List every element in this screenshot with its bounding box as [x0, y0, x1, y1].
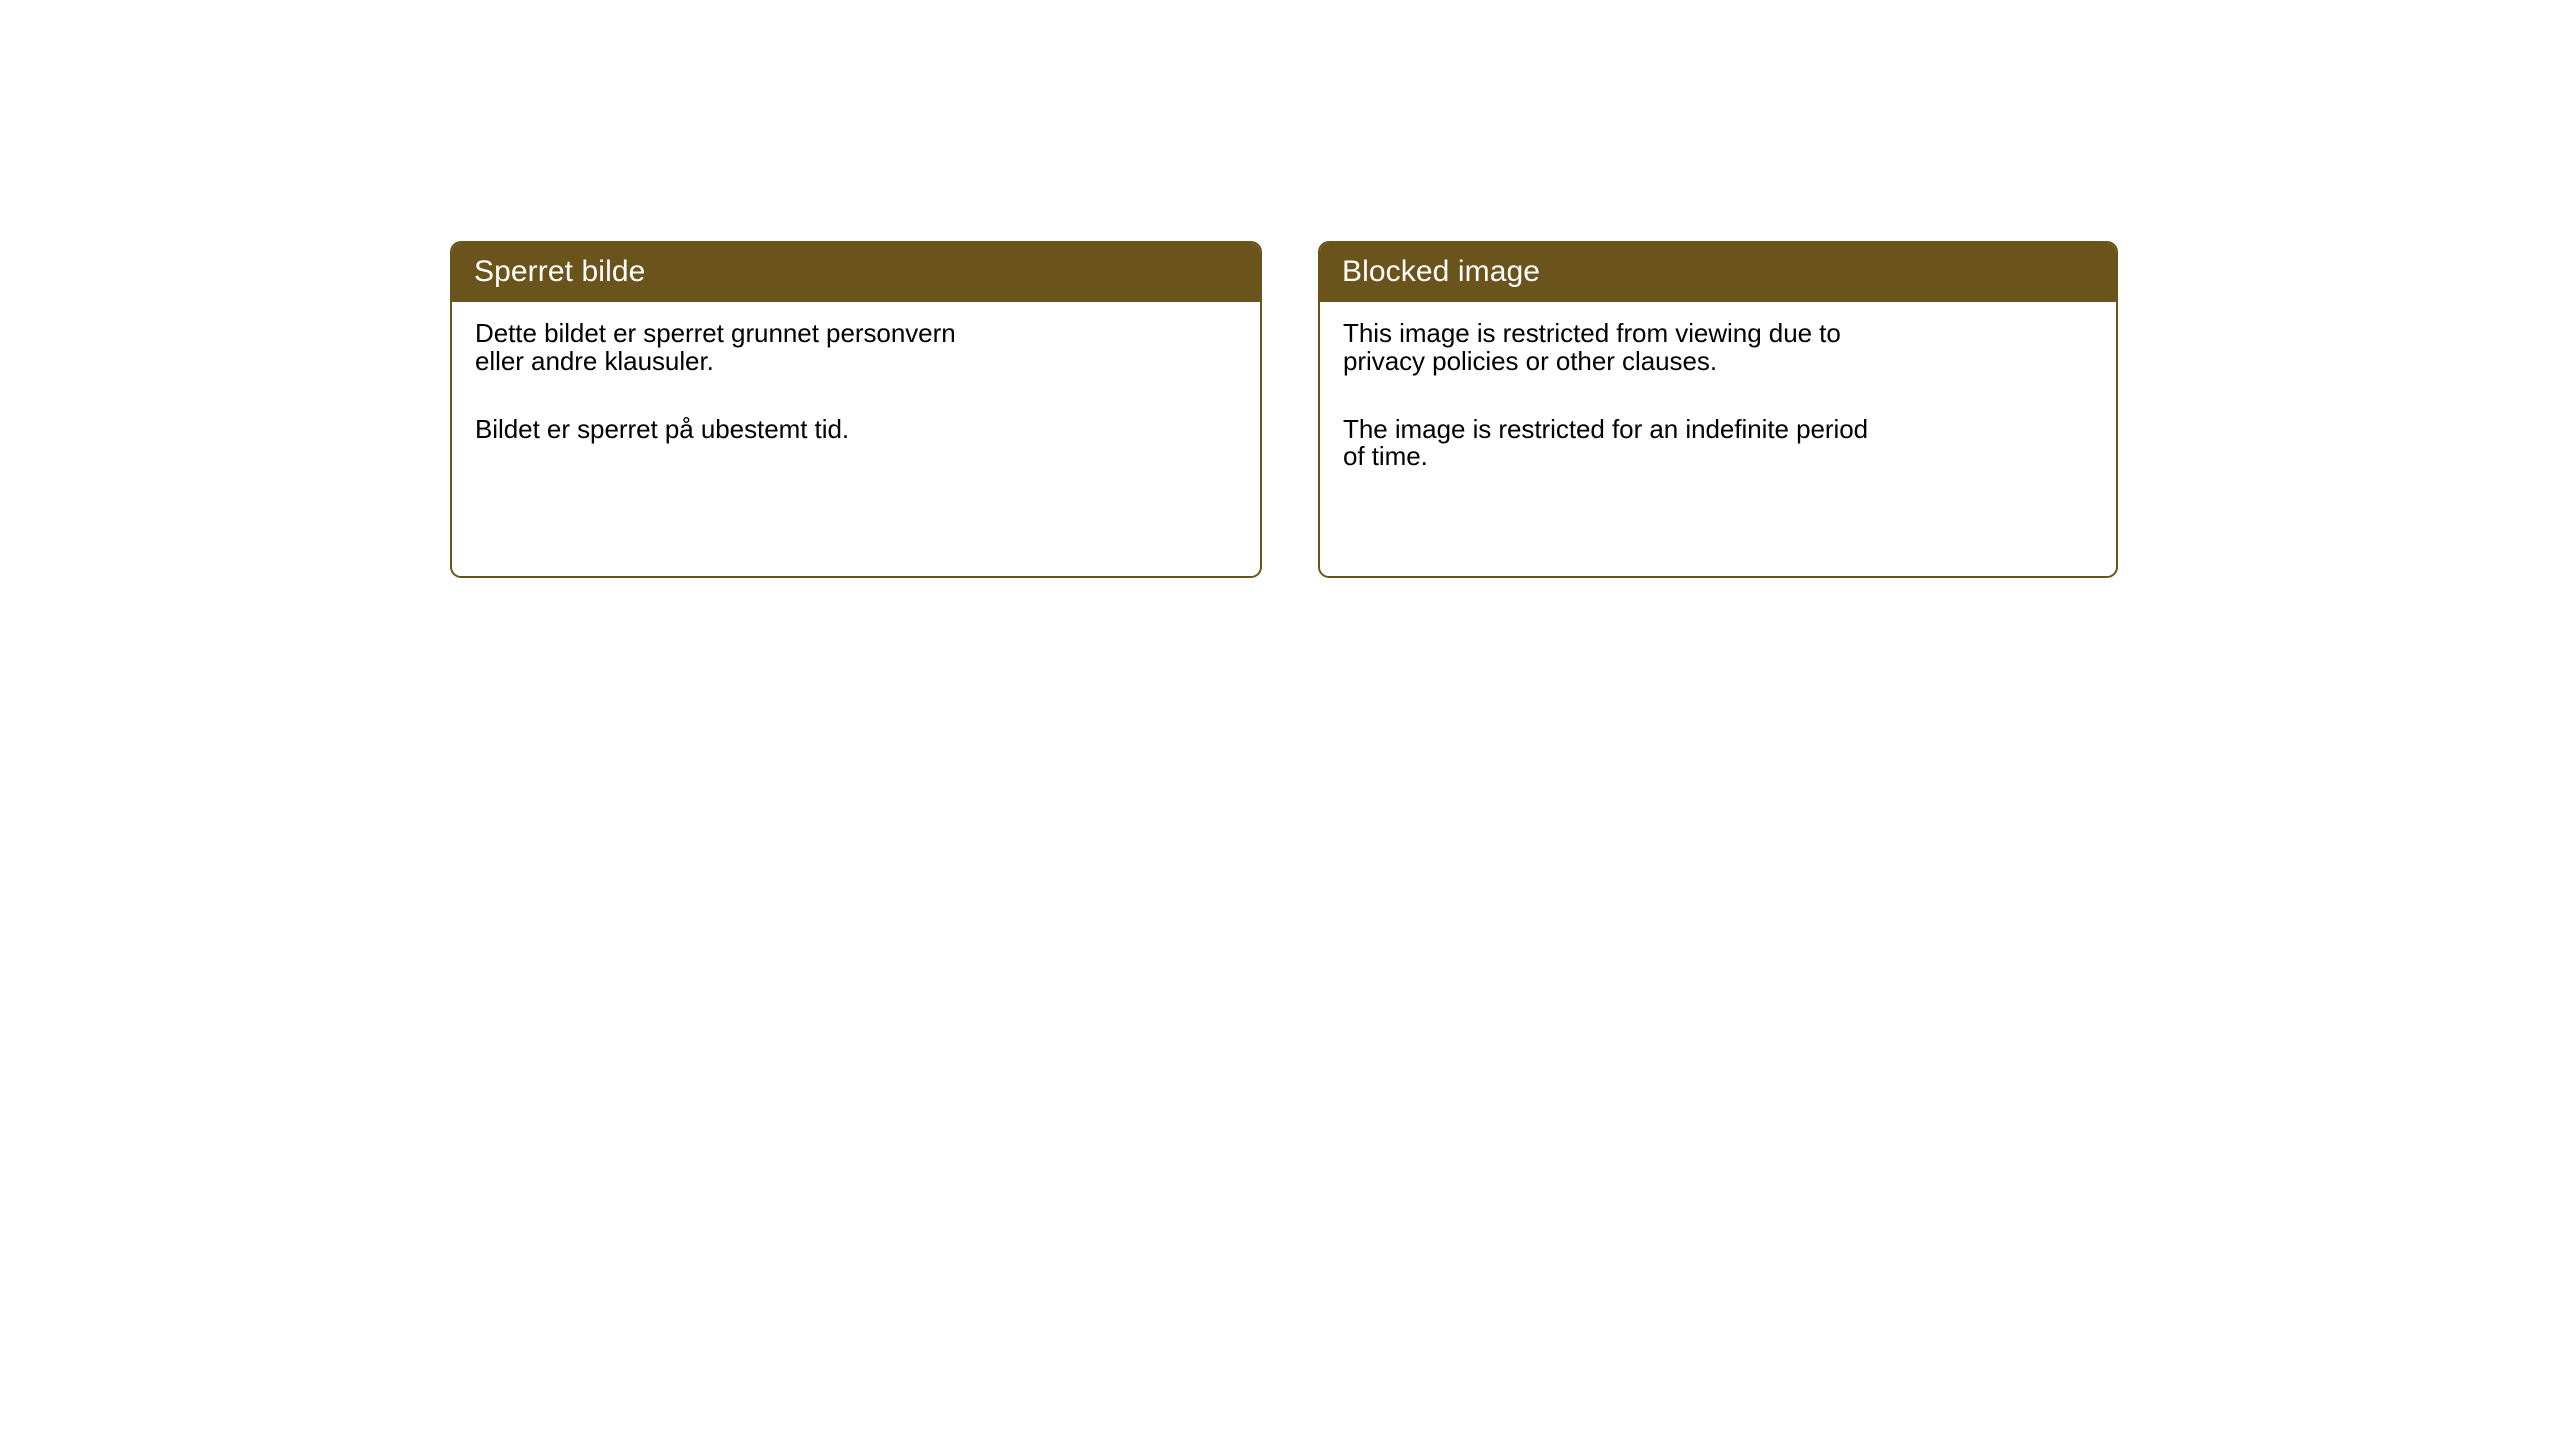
notice-paragraph: Bildet er sperret på ubestemt tid. [475, 416, 1238, 444]
blocked-image-notice-card-english: Blocked image This image is restricted f… [1318, 241, 2118, 578]
notice-line: This image is restricted from viewing du… [1343, 320, 2094, 348]
notice-line: Bildet er sperret på ubestemt tid. [475, 416, 1238, 444]
notice-line: eller andre klausuler. [475, 348, 1238, 376]
notice-paragraph: The image is restricted for an indefinit… [1343, 416, 2094, 472]
notice-paragraph: Dette bildet er sperret grunnet personve… [475, 320, 1238, 376]
notice-line: of time. [1343, 443, 2094, 471]
notice-line: privacy policies or other clauses. [1343, 348, 2094, 376]
notice-line: The image is restricted for an indefinit… [1343, 416, 2094, 444]
notice-line: Dette bildet er sperret grunnet personve… [475, 320, 1238, 348]
card-body-english: This image is restricted from viewing du… [1320, 302, 2116, 471]
card-body-norwegian: Dette bildet er sperret grunnet personve… [452, 302, 1260, 443]
card-title-norwegian: Sperret bilde [474, 257, 645, 287]
card-header-english: Blocked image [1319, 242, 2117, 302]
notice-paragraph: This image is restricted from viewing du… [1343, 320, 2094, 376]
blocked-image-notice-card-norwegian: Sperret bilde Dette bildet er sperret gr… [450, 241, 1262, 578]
card-header-norwegian: Sperret bilde [451, 242, 1261, 302]
page-root: Sperret bilde Dette bildet er sperret gr… [0, 0, 2560, 1440]
card-title-english: Blocked image [1342, 257, 1540, 287]
